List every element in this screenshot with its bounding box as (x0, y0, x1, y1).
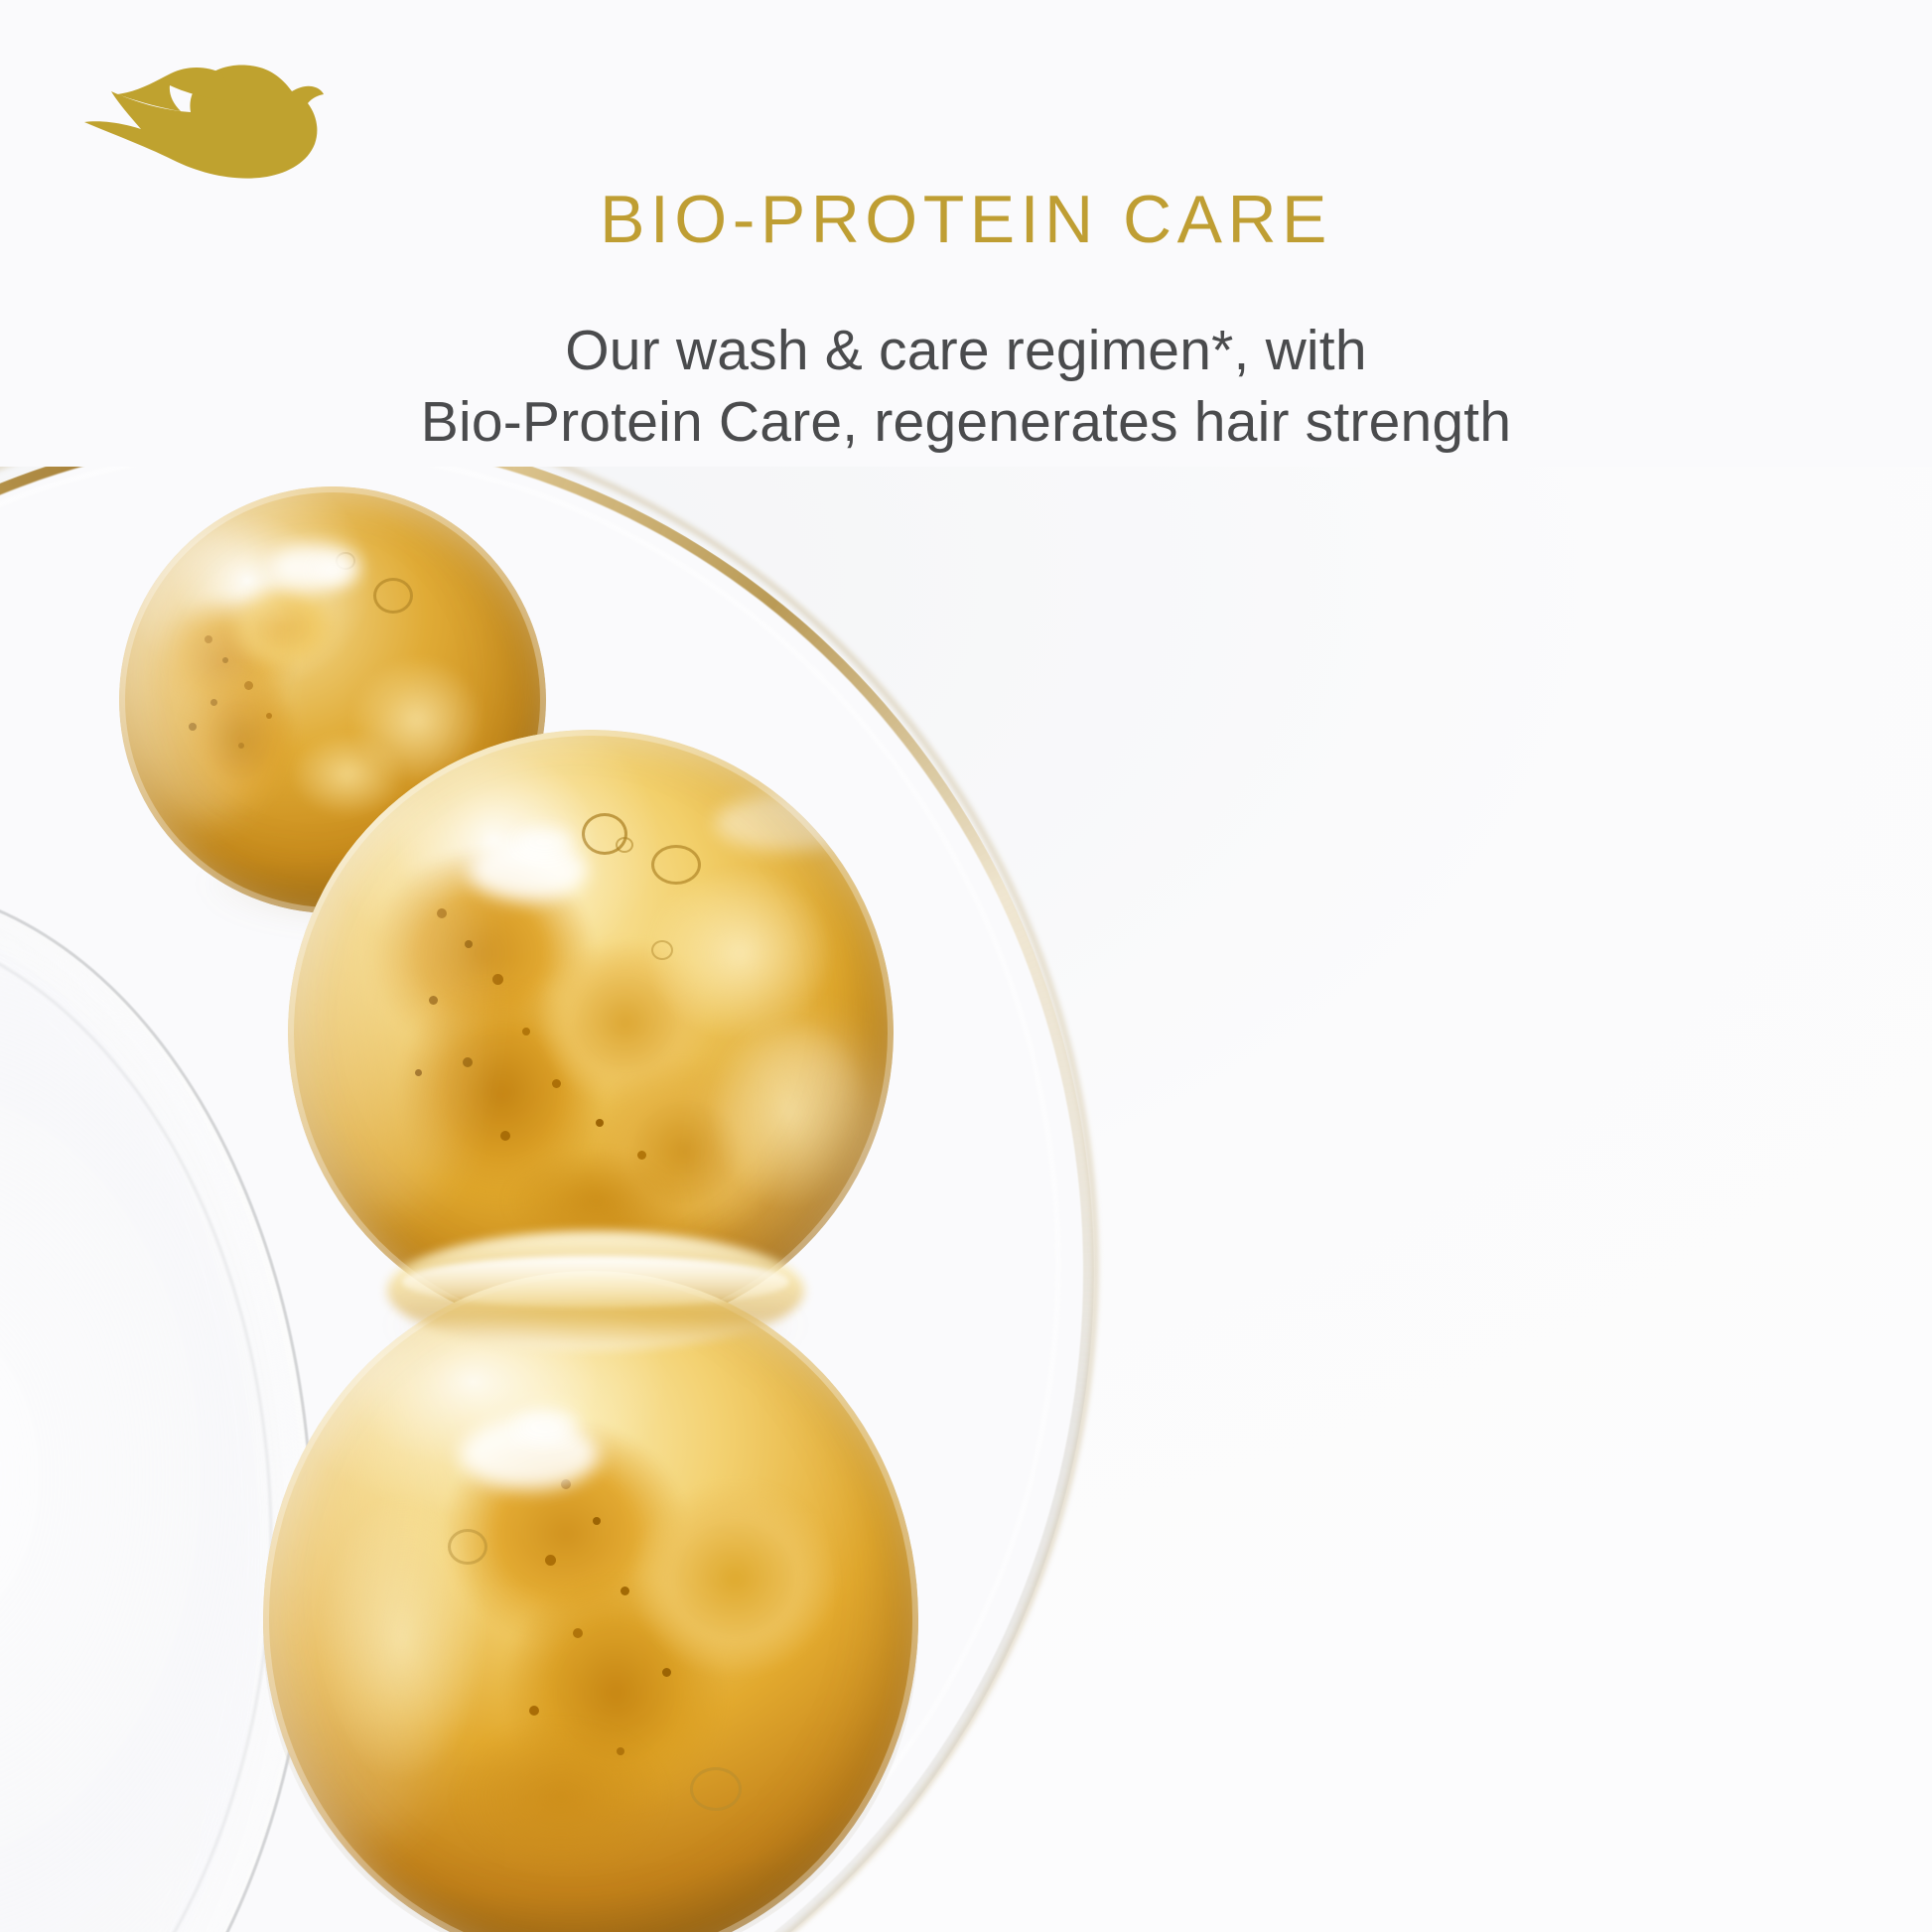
paragraph-line: Bio-Protein Care, regenerates hair stren… (321, 387, 1611, 459)
promo-card: BIO-PROTEIN CARE Our wash & care regimen… (0, 0, 1932, 1932)
oil-sphere-glass-shell (263, 1271, 918, 1932)
sphere-junction-highlight (402, 1256, 789, 1308)
paragraph-line: Our wash & care regimen*, with (321, 316, 1611, 387)
oil-sphere-bottom (263, 1271, 918, 1932)
product-photo (0, 467, 1932, 1932)
dove-bird-logo (58, 50, 355, 181)
page-title: BIO-PROTEIN CARE (0, 185, 1932, 255)
